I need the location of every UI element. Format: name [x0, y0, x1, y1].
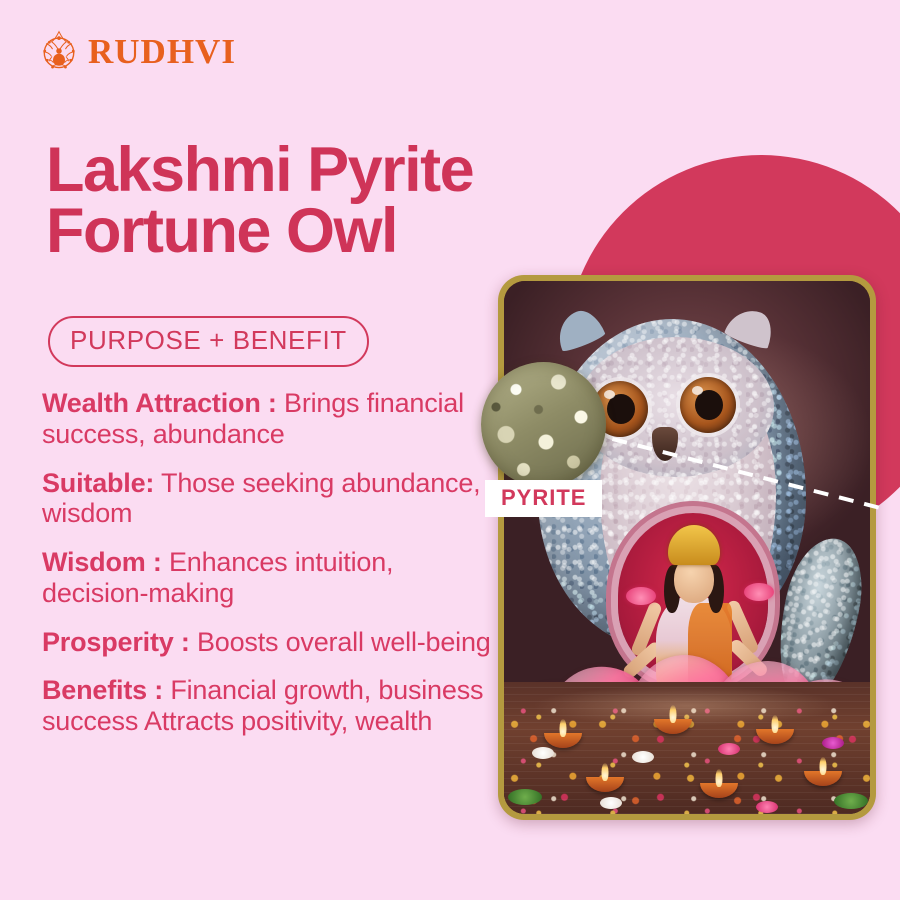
pyrite-callout: PYRITE — [481, 362, 606, 487]
headline-line-1: Lakshmi Pyrite — [46, 140, 606, 201]
benefit-text: Boosts overall well-being — [190, 627, 491, 657]
deity-lotus-right — [744, 583, 774, 601]
floating-flower — [600, 797, 622, 809]
benefit-item: Suitable: Those seeking abundance, wisdo… — [42, 468, 494, 530]
floating-leaf — [508, 789, 542, 805]
floating-flower — [756, 801, 778, 813]
benefit-label: Suitable: — [42, 468, 154, 498]
benefit-label: Wealth Attraction : — [42, 388, 277, 418]
brand-header: RUDHVI — [36, 28, 236, 74]
floating-flower — [632, 751, 654, 763]
benefit-item: Prosperity : Boosts overall well-being — [42, 627, 494, 658]
owl-eye-right — [680, 377, 736, 433]
benefit-item: Benefits : Financial growth, business su… — [42, 675, 494, 737]
product-photo — [504, 281, 870, 814]
floating-flower — [532, 747, 554, 759]
floating-flower — [822, 737, 844, 749]
deity-lotus-left — [626, 587, 656, 605]
benefit-label: Benefits : — [42, 675, 163, 705]
deity-crown — [668, 525, 720, 565]
product-image-card — [498, 275, 876, 820]
purpose-benefit-badge: PURPOSE + BENEFIT — [48, 316, 369, 367]
benefit-label: Prosperity : — [42, 627, 190, 657]
benefits-list: Wealth Attraction : Brings financial suc… — [42, 388, 494, 755]
brand-name: RUDHVI — [88, 34, 236, 69]
benefit-label: Wisdom : — [42, 547, 162, 577]
headline-line-2: Fortune Owl — [46, 201, 606, 262]
page-title: Lakshmi Pyrite Fortune Owl — [46, 140, 606, 262]
pyrite-material-label: PYRITE — [485, 480, 602, 517]
water-sheen — [504, 682, 870, 814]
pyrite-mineral-swatch-icon — [481, 362, 606, 487]
floating-flower — [718, 743, 740, 755]
mandala-deity-emblem-icon — [36, 28, 82, 74]
benefit-item: Wealth Attraction : Brings financial suc… — [42, 388, 494, 450]
benefit-item: Wisdom : Enhances intuition, decision-ma… — [42, 547, 494, 609]
floating-leaf — [834, 793, 868, 809]
